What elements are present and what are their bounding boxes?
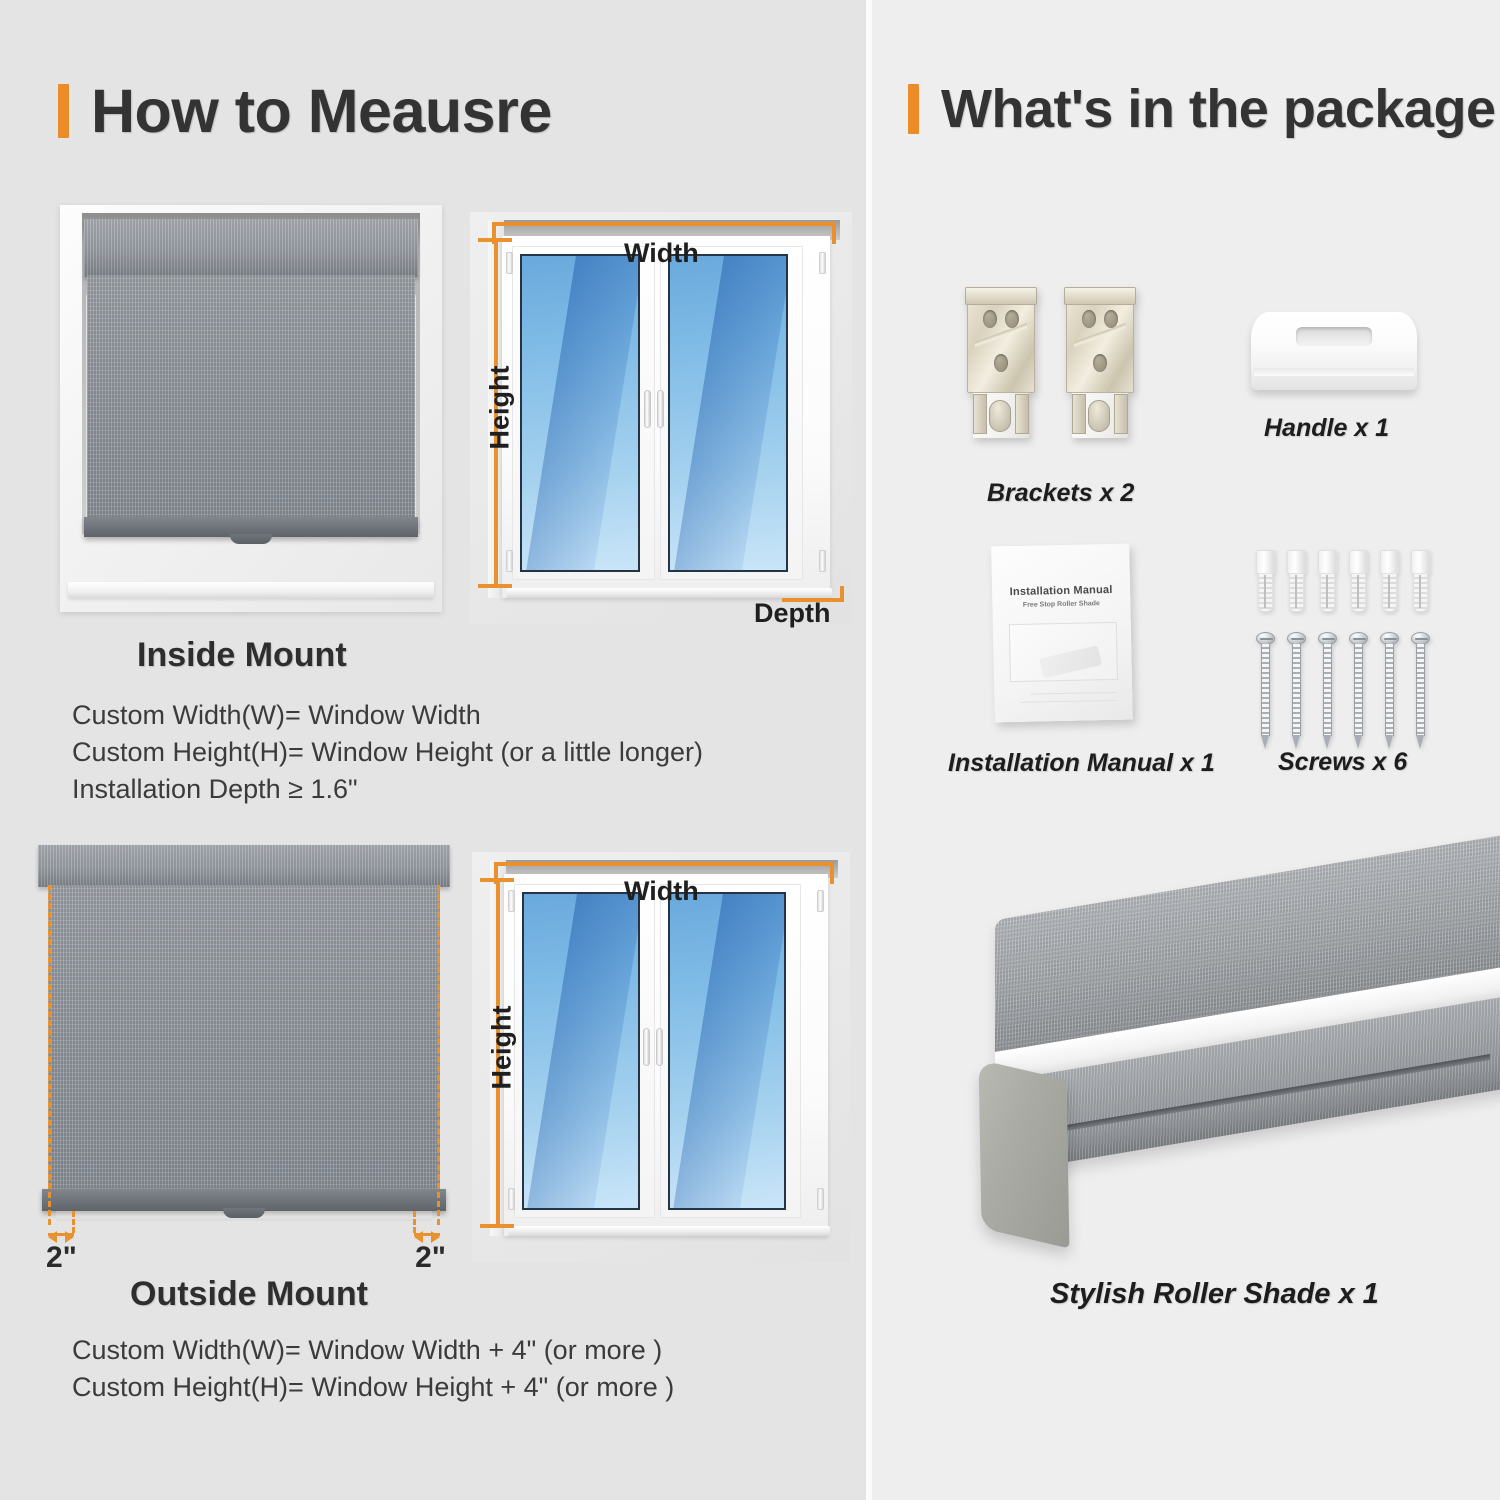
inside-note-width: Custom Width(W)= Window Width bbox=[72, 697, 703, 734]
bracket-icon-1 bbox=[967, 288, 1035, 438]
width-marker-top bbox=[494, 862, 834, 866]
handle-label: Handle x 1 bbox=[1264, 414, 1389, 443]
hinge-bot-left bbox=[508, 1188, 515, 1210]
anchor-head bbox=[1318, 550, 1337, 574]
overhang-arrow-left bbox=[48, 1233, 74, 1236]
overhang-left-label: 2" bbox=[46, 1241, 77, 1275]
accent-bar-icon bbox=[908, 84, 919, 134]
inside-note-depth: Installation Depth ≥ 1.6" bbox=[72, 771, 703, 808]
shade-end-cap bbox=[979, 1059, 1070, 1248]
handle-icon bbox=[1251, 312, 1417, 390]
brackets-label: Brackets x 2 bbox=[987, 479, 1134, 508]
manual-cover-figure bbox=[1009, 622, 1118, 682]
width-label: Width bbox=[624, 238, 699, 269]
bracket-top-flange bbox=[965, 287, 1037, 305]
bracket-tab-left bbox=[973, 394, 987, 434]
bracket-hole-2 bbox=[1005, 310, 1019, 328]
inside-mount-illustration bbox=[60, 205, 442, 612]
screw-tip bbox=[1292, 735, 1300, 749]
screw-icon bbox=[1287, 632, 1306, 750]
window-handles bbox=[644, 390, 664, 428]
anchor-head bbox=[1256, 550, 1275, 574]
overhang-arrow-right bbox=[414, 1233, 440, 1236]
width-marker-top bbox=[492, 222, 836, 226]
overhang-right-label: 2" bbox=[415, 1241, 446, 1275]
wall-anchor-icon bbox=[1318, 550, 1337, 612]
hinge-top-left bbox=[506, 252, 513, 274]
measure-diagram-outside: Width Height bbox=[472, 852, 850, 1262]
depth-label: Depth bbox=[754, 598, 831, 629]
screw-icon bbox=[1349, 632, 1368, 750]
width-marker-tick-right bbox=[830, 862, 834, 884]
package-title: What's in the package bbox=[941, 78, 1495, 140]
inside-mount-notes: Custom Width(W)= Window Width Custom Hei… bbox=[72, 697, 703, 808]
anchor-slit bbox=[1388, 575, 1390, 608]
outside-mount-title: Outside Mount bbox=[130, 1275, 368, 1314]
hinge-top-right bbox=[817, 890, 824, 912]
roller-shade-icon bbox=[965, 900, 1500, 1270]
bracket-tab-right bbox=[1015, 394, 1029, 434]
accent-bar-icon bbox=[58, 84, 69, 138]
infographic-root: How to Meausre What's in the package Ins… bbox=[0, 0, 1500, 1500]
height-marker-tick-top bbox=[478, 238, 512, 242]
bracket-icon-2 bbox=[1066, 288, 1134, 438]
screw-tip bbox=[1416, 735, 1424, 749]
how-to-measure-heading: How to Meausre bbox=[58, 76, 552, 146]
screw-shaft bbox=[1416, 644, 1425, 736]
wall-anchor-icon bbox=[1287, 550, 1306, 612]
screw-tip bbox=[1354, 735, 1362, 749]
screw-shaft bbox=[1292, 644, 1301, 736]
overhang-guide-left-outer bbox=[48, 885, 51, 1225]
hinge-top-right bbox=[819, 252, 826, 274]
bracket-hole-1 bbox=[983, 310, 997, 328]
shade-valance bbox=[38, 845, 450, 887]
package-heading: What's in the package bbox=[908, 78, 1495, 140]
screw-icon bbox=[1318, 632, 1337, 750]
hinge-top-left bbox=[508, 890, 515, 912]
manual-icon: Installation Manual Free Stop Roller Sha… bbox=[991, 544, 1133, 723]
shade-valance bbox=[84, 219, 418, 277]
height-marker-tick-top bbox=[480, 878, 514, 882]
height-label: Height bbox=[487, 1006, 518, 1090]
measure-diagram-inside: Width Height bbox=[470, 212, 852, 624]
overhang-guide-right-inner bbox=[413, 1211, 416, 1233]
inside-mount-title: Inside Mount bbox=[137, 636, 347, 675]
roller-shade-label: Stylish Roller Shade x 1 bbox=[1050, 1278, 1379, 1311]
bracket-center-slot bbox=[1088, 400, 1110, 432]
bracket-hole-3 bbox=[1093, 354, 1107, 372]
hinge-bot-left bbox=[506, 550, 513, 572]
hinge-bot-right bbox=[817, 1188, 824, 1210]
shade-bottom-bar bbox=[42, 1189, 446, 1211]
height-marker-tick-bottom bbox=[480, 1224, 514, 1228]
bracket-top-flange bbox=[1064, 287, 1136, 305]
manual-cover-subtitle: Free Stop Roller Shade bbox=[992, 600, 1130, 610]
screw-tip bbox=[1261, 735, 1269, 749]
shade-fabric bbox=[87, 275, 415, 519]
screw-tip bbox=[1323, 735, 1331, 749]
window-ledge bbox=[506, 588, 832, 598]
anchor-slit bbox=[1419, 575, 1421, 608]
screw-icon bbox=[1380, 632, 1399, 750]
wall-anchor-icon bbox=[1411, 550, 1430, 612]
anchor-head bbox=[1380, 550, 1399, 574]
glass-pane-left bbox=[520, 254, 640, 572]
outside-note-width: Custom Width(W)= Window Width + 4" (or m… bbox=[72, 1332, 674, 1369]
bracket-hole-1 bbox=[1082, 310, 1096, 328]
bracket-tab-left bbox=[1072, 394, 1086, 434]
wall-anchor-icon bbox=[1349, 550, 1368, 612]
width-marker-tick-right bbox=[832, 222, 836, 244]
screw-shaft bbox=[1261, 644, 1270, 736]
bracket-center-slot bbox=[989, 400, 1011, 432]
anchor-slit bbox=[1295, 575, 1297, 608]
window-handles bbox=[643, 1028, 663, 1066]
bracket-hole-3 bbox=[994, 354, 1008, 372]
anchor-head bbox=[1349, 550, 1368, 574]
bracket-tab-right bbox=[1114, 394, 1128, 434]
manual-label: Installation Manual x 1 bbox=[948, 749, 1215, 778]
window-sill bbox=[68, 582, 434, 598]
glass-pane-left bbox=[522, 892, 640, 1210]
handle-right-icon bbox=[656, 1028, 663, 1066]
shade-fabric bbox=[48, 885, 440, 1193]
bracket-highlight bbox=[975, 322, 1027, 348]
glass-pane-right bbox=[668, 254, 788, 572]
overhang-guide-left-inner bbox=[72, 1211, 75, 1233]
wall-anchor-icon bbox=[1380, 550, 1399, 612]
manual-footer-line-2 bbox=[1020, 700, 1116, 703]
bracket-highlight bbox=[1074, 322, 1126, 348]
shade-bottom-bar bbox=[84, 517, 418, 537]
manual-footer-line-1 bbox=[1030, 692, 1116, 695]
height-marker-tick-bottom bbox=[478, 584, 512, 588]
anchor-head bbox=[1411, 550, 1430, 574]
manual-cover-title: Installation Manual bbox=[992, 584, 1130, 599]
outside-mount-illustration: 2" 2" bbox=[34, 845, 454, 1265]
handle-left-icon bbox=[643, 1028, 650, 1066]
anchor-head bbox=[1287, 550, 1306, 574]
screw-shaft bbox=[1323, 644, 1332, 736]
depth-marker-tick bbox=[840, 586, 844, 602]
outside-note-height: Custom Height(H)= Window Height + 4" (or… bbox=[72, 1369, 674, 1406]
overhang-guide-right-outer bbox=[437, 885, 440, 1225]
handle-right-icon bbox=[657, 390, 664, 428]
bracket-hole-2 bbox=[1104, 310, 1118, 328]
width-label: Width bbox=[624, 876, 699, 907]
screw-shaft bbox=[1385, 644, 1394, 736]
screw-tip bbox=[1385, 735, 1393, 749]
screws-label: Screws x 6 bbox=[1278, 748, 1407, 777]
anchor-slit bbox=[1326, 575, 1328, 608]
screw-icon bbox=[1411, 632, 1430, 750]
hinge-bot-right bbox=[819, 550, 826, 572]
wall-anchor-icon bbox=[1256, 550, 1275, 612]
height-label: Height bbox=[485, 366, 516, 450]
inside-note-height: Custom Height(H)= Window Height (or a li… bbox=[72, 734, 703, 771]
glass-pane-right bbox=[668, 892, 786, 1210]
anchor-slit bbox=[1264, 575, 1266, 608]
window-ledge bbox=[508, 1226, 830, 1236]
handle-left-icon bbox=[644, 390, 651, 428]
screw-icon bbox=[1256, 632, 1275, 750]
outside-mount-notes: Custom Width(W)= Window Width + 4" (or m… bbox=[72, 1332, 674, 1406]
how-to-measure-title: How to Meausre bbox=[91, 76, 552, 146]
anchor-slit bbox=[1357, 575, 1359, 608]
screw-shaft bbox=[1354, 644, 1363, 736]
manual-figure-shape bbox=[1039, 645, 1102, 678]
